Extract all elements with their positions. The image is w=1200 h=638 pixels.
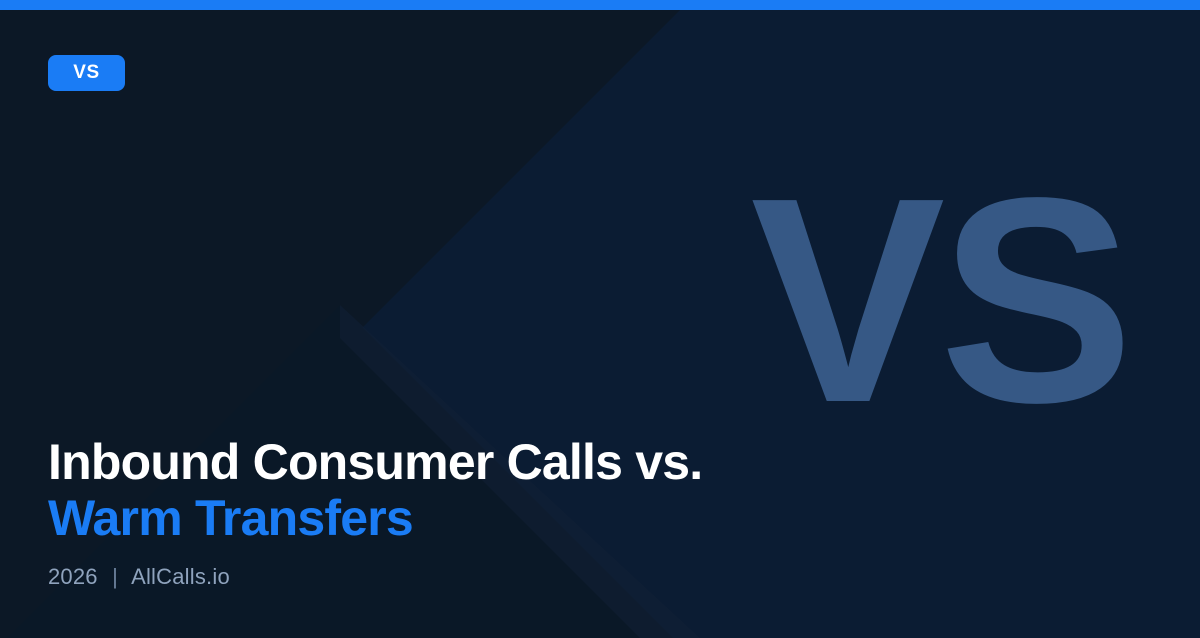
headline-block: Inbound Consumer Calls vs. Warm Transfer…: [48, 434, 702, 590]
vs-watermark: VS: [750, 154, 1128, 446]
top-accent-bar: [0, 0, 1200, 10]
headline-line-1: Inbound Consumer Calls vs.: [48, 434, 702, 490]
vs-badge-label: VS: [73, 62, 100, 84]
footer-site: AllCalls.io: [131, 564, 230, 589]
vs-badge: VS: [48, 55, 125, 91]
footer-separator: |: [104, 564, 126, 589]
footer-year: 2026: [48, 564, 98, 589]
footer-meta: 2026 | AllCalls.io: [48, 564, 702, 590]
headline-line-2: Warm Transfers: [48, 490, 702, 546]
slide-canvas: VS VS Inbound Consumer Calls vs. Warm Tr…: [0, 0, 1200, 638]
